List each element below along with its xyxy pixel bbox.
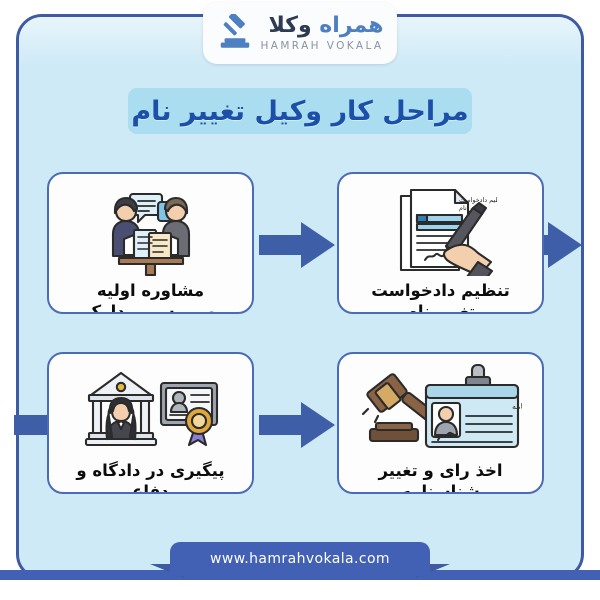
consultation-meeting-icon xyxy=(49,182,252,278)
brand-name-fa: همراه وکلا xyxy=(268,15,383,37)
step-card-3[interactable]: پیگیری در دادگاه و دفاع xyxy=(47,352,254,494)
step-card-2[interactable]: تنظیم دادخواست تغییر نام xyxy=(337,172,544,314)
svg-text:تولید شناسنامه: تولید شناسنامه xyxy=(512,402,522,411)
gavel-id-card-icon: تولید شناسنامه xyxy=(339,362,542,458)
step-card-2-label: تنظیم دادخواست تغییر نام xyxy=(363,280,518,314)
step-card-1[interactable]: مشاوره اولیه و بررسی مدارک xyxy=(47,172,254,314)
brand-logo: همراه وکلا HAMRAH VOKALA xyxy=(203,2,397,64)
brand-name-fa-secondary: وکلا xyxy=(268,13,319,38)
brand-name-en: HAMRAH VOKALA xyxy=(260,41,383,52)
document-signing-icon: تنظیم دادخواست تغییر نام xyxy=(339,182,542,278)
footer-white-strip xyxy=(0,580,600,600)
infographic-root: همراه وکلا HAMRAH VOKALA مراحل کار وکیل … xyxy=(0,0,600,600)
courthouse-certificate-icon xyxy=(49,362,252,458)
arrow-step1-to-step2 xyxy=(259,222,335,268)
arrow-step3-to-step4 xyxy=(259,402,335,448)
brand-name-fa-primary: همراه xyxy=(319,13,383,38)
step-card-4-label: اخذ رای و تغییر شناسنامه xyxy=(339,460,542,494)
step-card-1-label: مشاوره اولیه و بررسی مدارک xyxy=(76,280,224,314)
step-card-4[interactable]: تولید شناسنامه اخذ رای و تغییر شناسنامه xyxy=(337,352,544,494)
step-card-3-label: پیگیری در دادگاه و دفاع xyxy=(49,460,252,494)
page-title: مراحل کار وکیل تغییر نام xyxy=(131,96,468,127)
gavel-icon xyxy=(216,14,254,52)
page-title-band: مراحل کار وکیل تغییر نام xyxy=(128,88,472,134)
